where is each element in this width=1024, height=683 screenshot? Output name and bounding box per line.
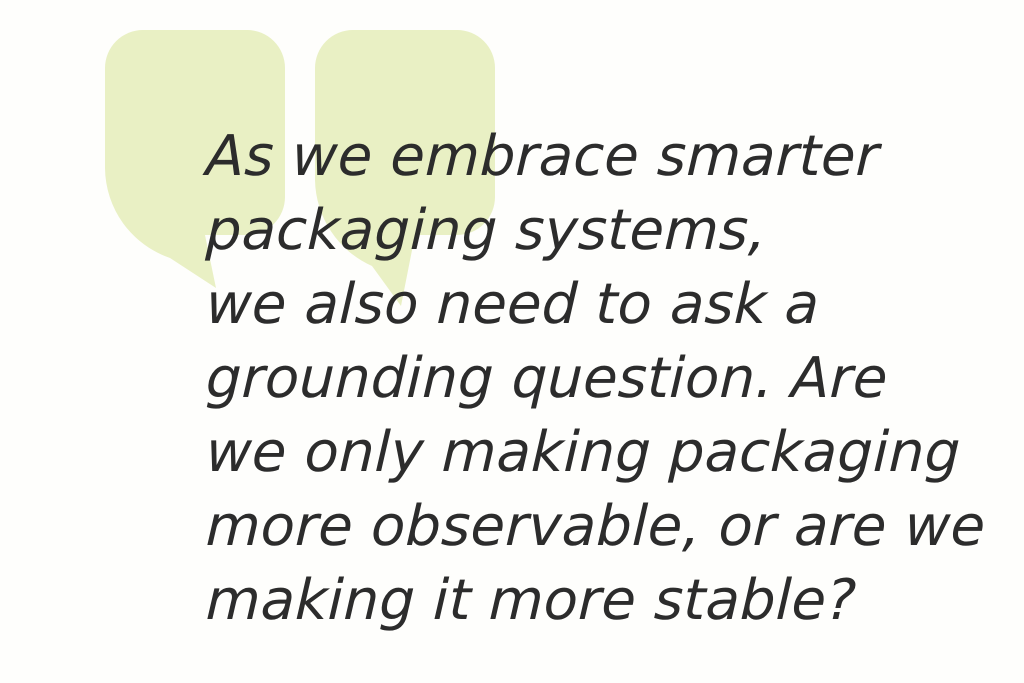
quote-line-1: As we embrace smarter: [205, 120, 1008, 194]
quote-line-3: we also need to ask a: [205, 268, 1008, 342]
quote-line-2: packaging systems,: [205, 194, 1008, 268]
quote-line-4: grounding question. Are: [205, 342, 1008, 416]
quote-card: As we embrace smarter packaging systems,…: [0, 0, 1024, 683]
quote-line-7: making it more stable?: [205, 564, 1008, 638]
quote-line-5: we only making packaging: [205, 416, 1008, 490]
pull-quote: As we embrace smarter packaging systems,…: [206, 120, 1006, 638]
quote-line-6: more observable, or are we: [205, 490, 1008, 564]
